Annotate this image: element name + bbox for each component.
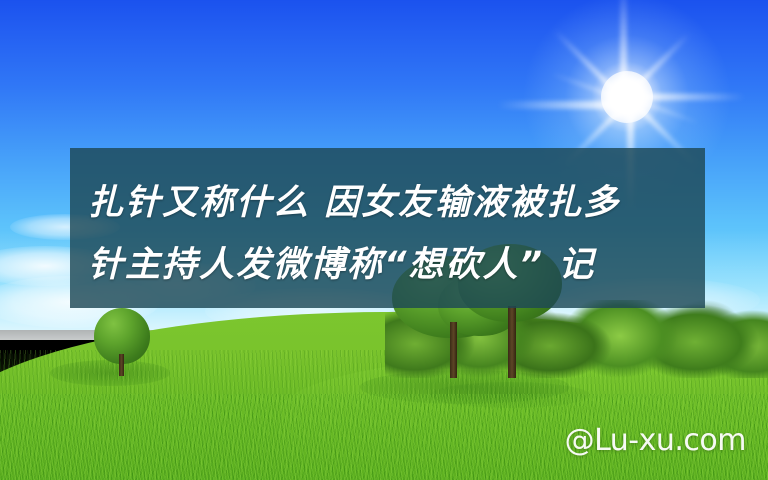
headline-overlay-band: 扎针又称什么 因女友输液被扎多 针主持人发微博称“想砍人” 记: [70, 148, 705, 308]
headline-line-1: 扎针又称什么 因女友输液被扎多: [88, 172, 687, 234]
tall-tree-1-trunk: [450, 322, 457, 378]
lone-tree: [92, 308, 152, 376]
site-watermark: @Lu-xu.com: [565, 423, 746, 458]
sun-core: [601, 71, 653, 123]
screenshot-canvas: 扎针又称什么 因女友输液被扎多 针主持人发微博称“想砍人” 记 @Lu-xu.c…: [0, 0, 768, 480]
lone-tree-trunk: [119, 354, 124, 376]
tall-tree-2-trunk: [508, 306, 516, 378]
headline-line-2: 针主持人发微博称“想砍人” 记: [88, 234, 687, 296]
